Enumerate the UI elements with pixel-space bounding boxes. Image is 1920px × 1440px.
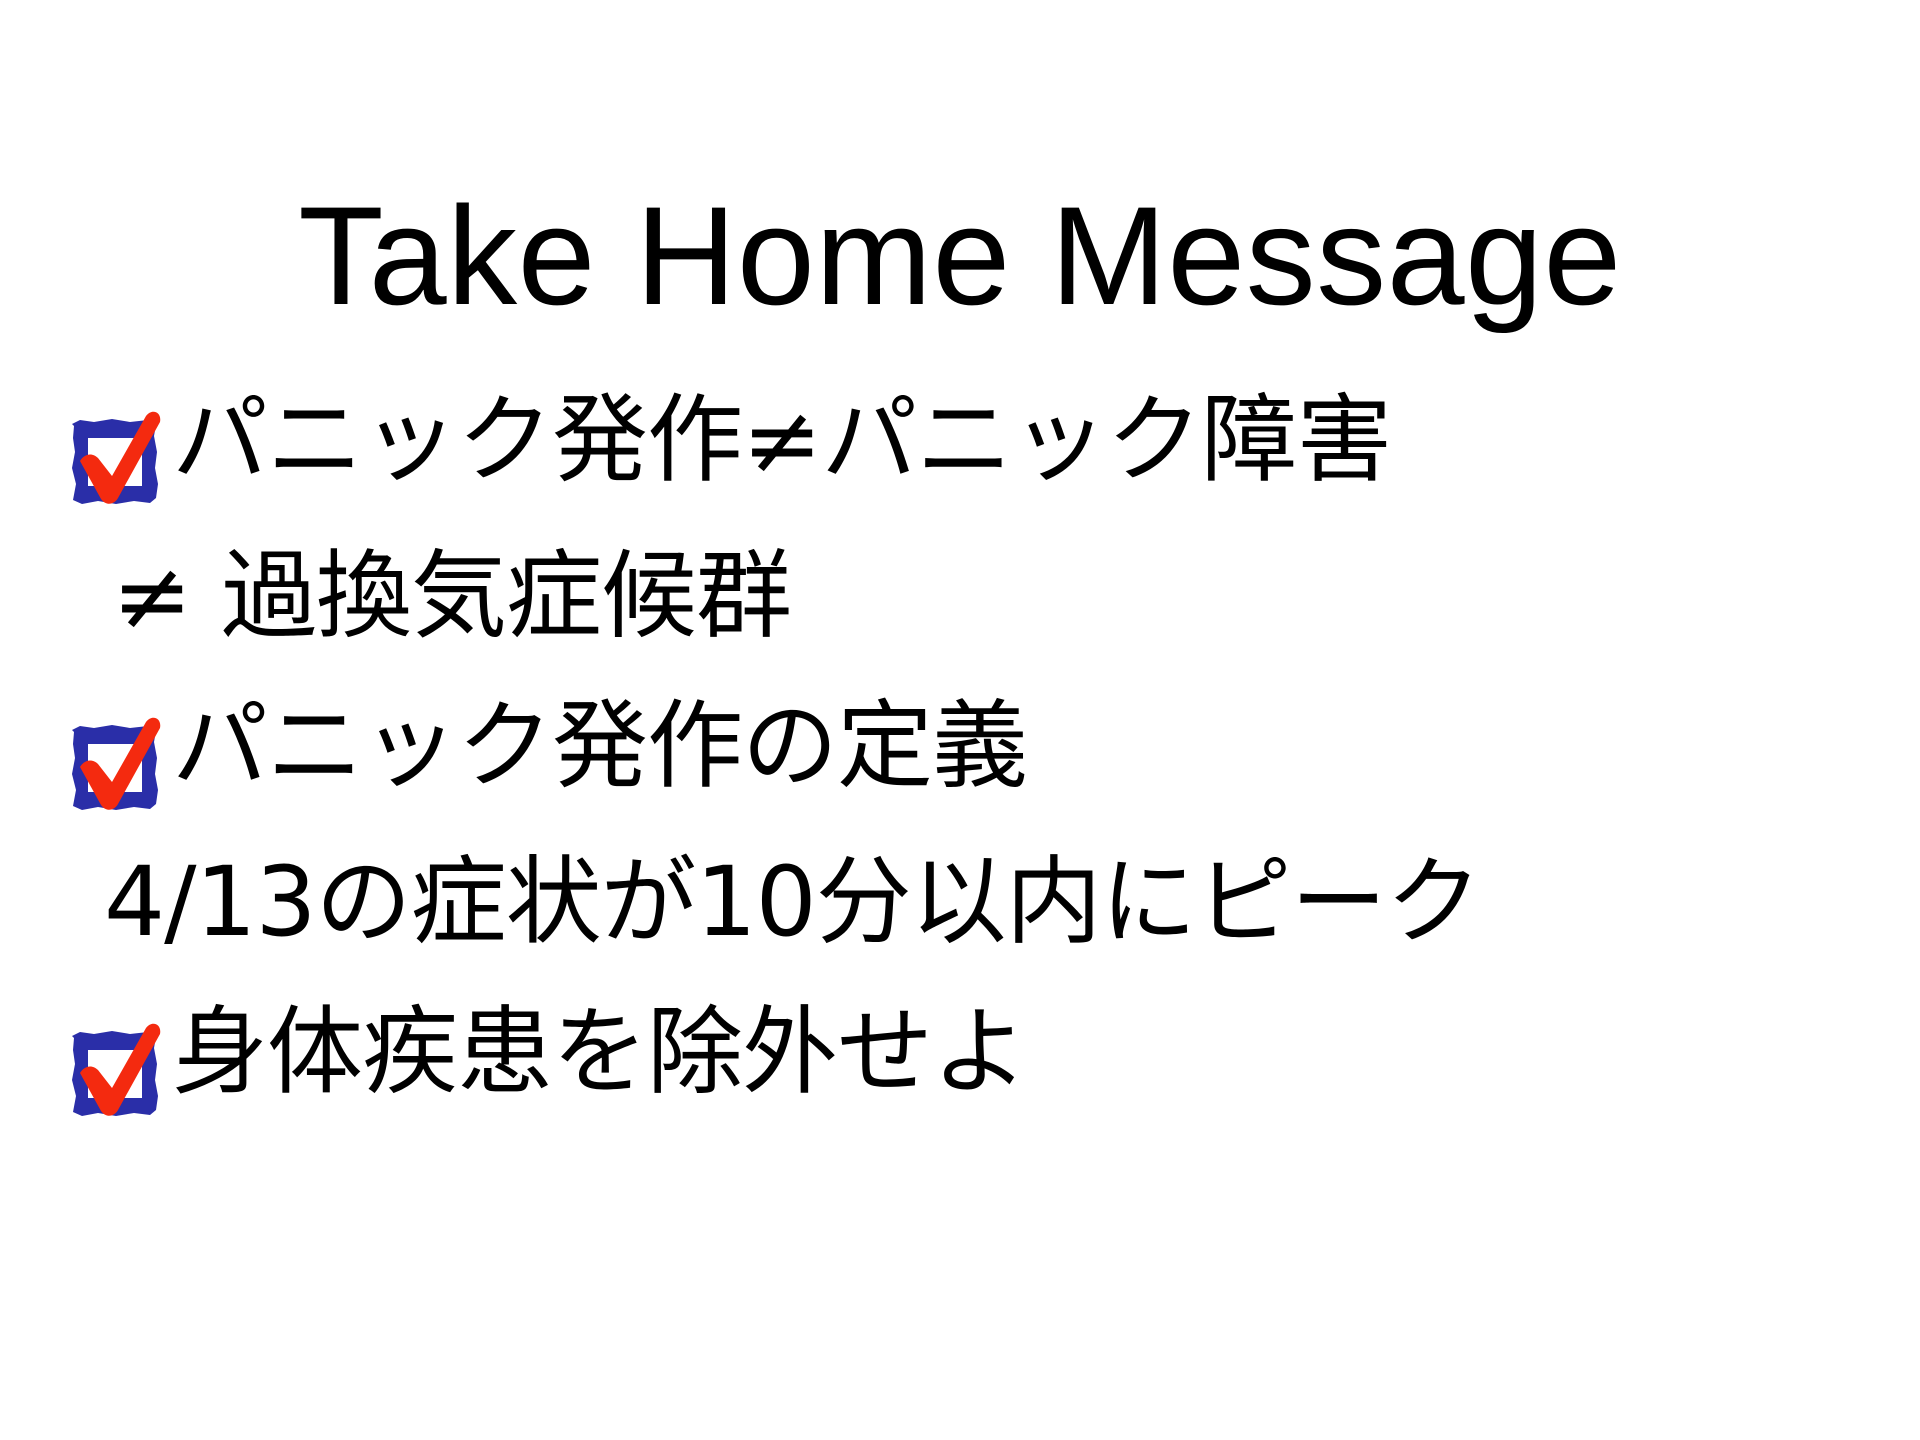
page-title: Take Home Message: [0, 186, 1920, 326]
checked-checkbox-icon: [60, 1018, 178, 1130]
list-item: パニック発作≠パニック障害 ≠ 過換気症候群: [60, 392, 1860, 644]
bullet-text-line2: 4/13の症状が10分以内にピーク: [104, 854, 1860, 950]
checked-checkbox-icon: [60, 712, 178, 824]
checked-checkbox-icon: [60, 406, 178, 518]
bullet-text-line1: 身体疾患を除外せよ: [172, 1004, 1027, 1100]
bullet-row: パニック発作≠パニック障害: [60, 392, 1860, 518]
bullet-text-line1: パニック発作の定義: [172, 698, 1027, 794]
bullet-row: パニック発作の定義: [60, 698, 1860, 824]
bullet-text-line1: パニック発作≠パニック障害: [172, 392, 1391, 488]
bullet-list: パニック発作≠パニック障害 ≠ 過換気症候群 パニック発作の定義 4/13の症状…: [60, 392, 1860, 1130]
bullet-row: 身体疾患を除外せよ: [60, 1004, 1860, 1130]
list-item: パニック発作の定義 4/13の症状が10分以内にピーク: [60, 698, 1860, 950]
bullet-text-line2: ≠ 過換気症候群: [112, 548, 1860, 644]
slide-canvas: Take Home Message パニック発作≠パニック障害 ≠ 過換気症候群: [0, 0, 1920, 1440]
list-item: 身体疾患を除外せよ: [60, 1004, 1860, 1130]
